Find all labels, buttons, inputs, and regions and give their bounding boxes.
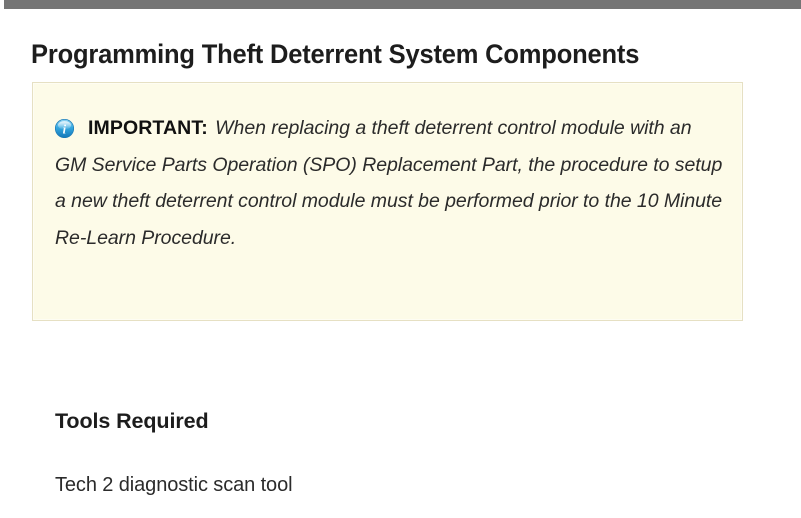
important-callout-text: i IMPORTANT: When replacing a theft dete… xyxy=(55,110,726,256)
document-page: Programming Theft Deterrent System Compo… xyxy=(0,0,801,518)
important-label: IMPORTANT: xyxy=(88,117,208,139)
svg-text:i: i xyxy=(63,122,67,136)
info-icon: i xyxy=(55,119,74,138)
page-title: Programming Theft Deterrent System Compo… xyxy=(31,38,730,70)
top-gray-bar xyxy=(4,0,801,9)
important-callout-box: i IMPORTANT: When replacing a theft dete… xyxy=(32,82,743,321)
tools-required-item: Tech 2 diagnostic scan tool xyxy=(55,472,292,498)
tools-required-heading: Tools Required xyxy=(55,408,209,434)
